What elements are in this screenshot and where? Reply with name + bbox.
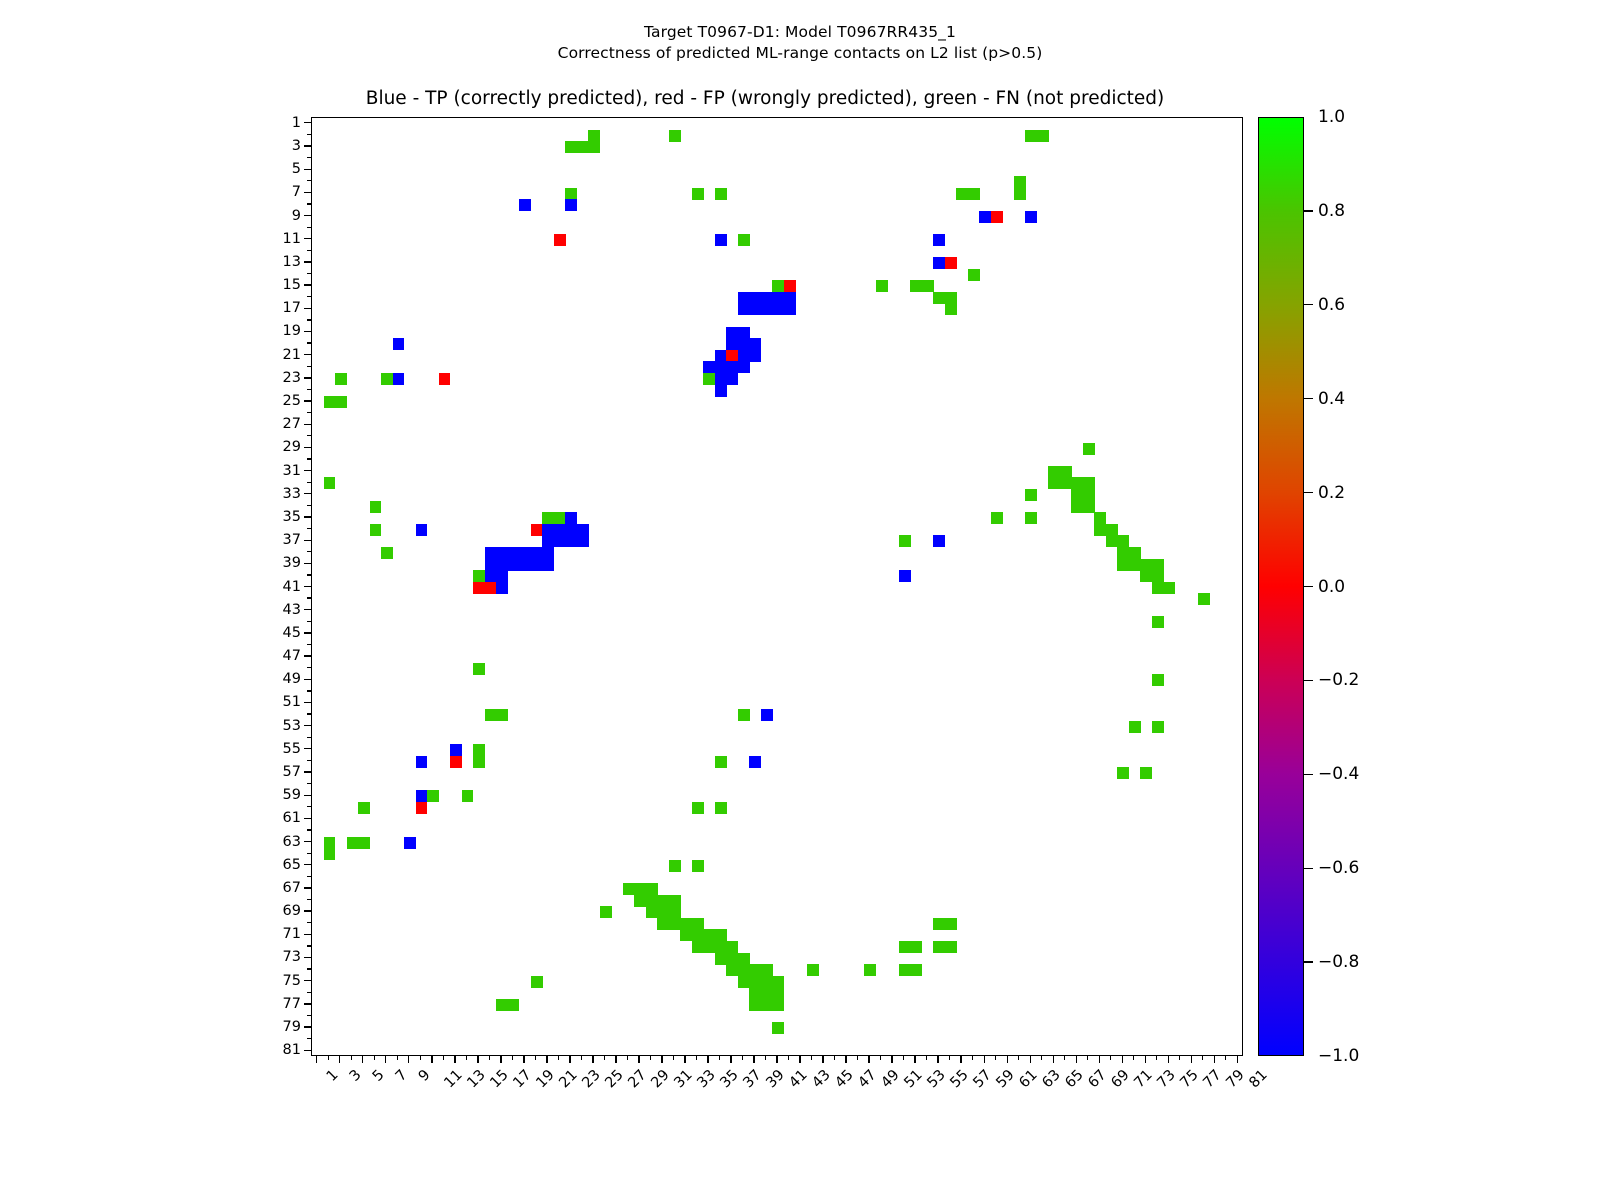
contact-cell-fn <box>738 964 750 976</box>
contact-cell-fn <box>381 547 393 559</box>
y-tick <box>304 586 311 587</box>
contact-cell-fn <box>588 130 600 142</box>
x-tick-label: 53 <box>924 1067 948 1091</box>
y-tick <box>307 157 311 158</box>
contact-cell-fn <box>703 929 715 941</box>
y-tick <box>304 122 311 123</box>
contact-cell-fn <box>669 906 681 918</box>
contact-cell-fn <box>749 987 761 999</box>
contact-cell-tp <box>738 292 750 304</box>
contact-cell-tp <box>738 361 750 373</box>
y-tick <box>304 400 311 401</box>
y-tick <box>304 655 311 656</box>
contact-cell-fn <box>715 929 727 941</box>
y-tick <box>307 296 311 297</box>
x-tick-label: 21 <box>556 1067 580 1091</box>
y-tick-label: 49 <box>241 671 301 687</box>
contact-cell-fn <box>1140 767 1152 779</box>
x-tick-label: 27 <box>625 1067 649 1091</box>
y-tick <box>304 354 311 355</box>
colorbar-tick-label: −0.2 <box>1318 670 1359 690</box>
contact-cell-fn <box>1060 477 1072 489</box>
contact-cell-fp <box>726 350 738 362</box>
x-tick-label: 61 <box>1017 1067 1041 1091</box>
x-tick-label: 75 <box>1178 1067 1202 1091</box>
x-tick-label: 35 <box>717 1067 741 1091</box>
x-tick <box>1133 1056 1134 1060</box>
contact-cell-fn <box>692 802 704 814</box>
contact-cell-fn <box>542 512 554 524</box>
x-tick <box>1053 1056 1054 1063</box>
colorbar-tick <box>1304 210 1313 211</box>
y-tick <box>304 540 311 541</box>
contact-cell-fn <box>634 895 646 907</box>
contact-cell-tp <box>485 559 497 571</box>
y-tick <box>304 748 311 749</box>
y-tick-label: 61 <box>241 810 301 826</box>
contact-cell-fn <box>657 918 669 930</box>
contact-cell-tp <box>772 292 784 304</box>
contact-cell-fn <box>508 999 520 1011</box>
y-tick <box>304 679 311 680</box>
contact-cell-fn <box>1083 501 1095 513</box>
contact-cell-tp <box>726 327 738 339</box>
contact-cell-fn <box>761 976 773 988</box>
contact-cell-fn <box>485 709 497 721</box>
y-tick-label: 19 <box>241 323 301 339</box>
x-tick-label: 15 <box>487 1067 511 1091</box>
contact-cell-fn <box>473 756 485 768</box>
contact-cell-fn <box>646 895 658 907</box>
x-tick <box>937 1056 938 1063</box>
contact-cell-fn <box>899 964 911 976</box>
contact-cell-tp <box>738 350 750 362</box>
x-tick-label: 13 <box>464 1067 488 1091</box>
y-tick <box>307 876 311 877</box>
contact-cell-fp <box>416 802 428 814</box>
contact-cell-tp <box>565 524 577 536</box>
y-tick-label: 27 <box>241 416 301 432</box>
y-tick <box>307 690 311 691</box>
y-tick-label: 55 <box>241 741 301 757</box>
x-tick <box>1122 1056 1123 1063</box>
contact-cell-tp <box>933 257 945 269</box>
y-tick <box>304 1003 311 1004</box>
y-tick-label: 37 <box>241 532 301 548</box>
y-tick <box>307 482 311 483</box>
x-tick <box>1099 1056 1100 1063</box>
y-tick <box>307 574 311 575</box>
y-tick-label: 11 <box>241 231 301 247</box>
contact-cell-fn <box>1014 188 1026 200</box>
y-tick <box>304 771 311 772</box>
x-tick <box>592 1056 593 1063</box>
contact-cell-fn <box>381 373 393 385</box>
y-tick <box>307 319 311 320</box>
contact-cell-fn <box>358 802 370 814</box>
contact-cell-tp <box>531 559 543 571</box>
contact-cell-fn <box>1094 524 1106 536</box>
contact-cell-fn <box>945 303 957 315</box>
contact-cell-fn <box>1198 593 1210 605</box>
y-tick-label: 31 <box>241 463 301 479</box>
x-tick-label: 67 <box>1086 1067 1110 1091</box>
x-tick <box>581 1056 582 1060</box>
contact-cell-fn <box>1152 570 1164 582</box>
y-tick-label: 15 <box>241 277 301 293</box>
x-tick <box>984 1056 985 1063</box>
contact-cell-fn <box>324 848 336 860</box>
x-tick <box>1087 1056 1088 1060</box>
x-tick-label: 69 <box>1109 1067 1133 1091</box>
contact-cell-fn <box>347 837 359 849</box>
y-tick <box>307 458 311 459</box>
contact-cell-fn <box>922 280 934 292</box>
contact-cell-fn <box>600 906 612 918</box>
contact-cell-tp <box>542 559 554 571</box>
y-tick-label: 9 <box>241 208 301 224</box>
x-tick <box>1018 1056 1019 1060</box>
contact-cell-tp <box>393 338 405 350</box>
contact-cell-fn <box>738 234 750 246</box>
y-tick <box>304 493 311 494</box>
contact-cell-fn <box>692 929 704 941</box>
contact-cell-fn <box>634 883 646 895</box>
contact-cell-fn <box>749 976 761 988</box>
contact-cell-fn <box>692 918 704 930</box>
y-tick <box>304 910 311 911</box>
y-tick <box>307 853 311 854</box>
y-tick <box>307 389 311 390</box>
y-tick <box>307 829 311 830</box>
contact-cell-tp <box>416 790 428 802</box>
contact-cell-fn <box>1117 767 1129 779</box>
contact-cell-fn <box>692 860 704 872</box>
contact-cell-fn <box>1048 477 1060 489</box>
y-tick <box>307 227 311 228</box>
contact-cell-fn <box>427 790 439 802</box>
contact-cell-fn <box>669 918 681 930</box>
contact-cell-tp <box>772 303 784 315</box>
y-tick <box>307 180 311 181</box>
colorbar <box>1258 117 1304 1056</box>
contact-cell-fp <box>945 257 957 269</box>
colorbar-tick-label: 0.2 <box>1318 483 1345 503</box>
contact-cell-fn <box>703 941 715 953</box>
contact-cell-fn <box>1106 535 1118 547</box>
contact-cell-fn <box>1140 570 1152 582</box>
y-tick <box>307 899 311 900</box>
contact-cell-tp <box>496 547 508 559</box>
colorbar-tick-label: 0.6 <box>1318 295 1345 315</box>
y-tick-label: 13 <box>241 254 301 270</box>
y-tick <box>304 284 311 285</box>
contact-cell-fn <box>956 188 968 200</box>
y-tick-label: 75 <box>241 973 301 989</box>
x-tick-label: 49 <box>878 1067 902 1091</box>
contact-cell-fn <box>715 802 727 814</box>
y-tick <box>307 412 311 413</box>
contact-cell-tp <box>726 361 738 373</box>
colorbar-tick-label: 0.8 <box>1318 201 1345 221</box>
x-tick-label: 79 <box>1224 1067 1248 1091</box>
x-tick <box>719 1056 720 1060</box>
contact-cell-fn <box>1071 501 1083 513</box>
y-tick <box>304 864 311 865</box>
x-tick-label: 39 <box>763 1067 787 1091</box>
contact-cell-fn <box>1129 547 1141 559</box>
contact-cell-fn <box>726 953 738 965</box>
x-tick <box>742 1056 743 1060</box>
contact-cell-tp <box>738 327 750 339</box>
contact-cell-fn <box>772 280 784 292</box>
x-tick-label: 37 <box>740 1067 764 1091</box>
contact-cell-fn <box>807 964 819 976</box>
contact-cell-fn <box>496 709 508 721</box>
contact-cell-tp <box>577 524 589 536</box>
y-tick <box>307 366 311 367</box>
contact-cell-fn <box>899 941 911 953</box>
contact-cell-tp <box>979 211 991 223</box>
x-tick <box>535 1056 536 1060</box>
x-tick <box>880 1056 881 1060</box>
y-tick <box>304 1050 311 1051</box>
y-tick-label: 33 <box>241 486 301 502</box>
contact-cell-fn <box>703 373 715 385</box>
contact-cell-fn <box>324 477 336 489</box>
x-tick-label: 51 <box>901 1067 925 1091</box>
contact-cell-tp <box>565 512 577 524</box>
y-tick-label: 47 <box>241 648 301 664</box>
x-tick <box>443 1056 444 1060</box>
y-tick <box>304 632 311 633</box>
x-tick <box>615 1056 616 1063</box>
contact-cell-tp <box>416 524 428 536</box>
contact-cell-tp <box>508 559 520 571</box>
x-tick <box>397 1056 398 1060</box>
x-tick <box>1168 1056 1169 1063</box>
contact-cell-tp <box>393 373 405 385</box>
x-tick <box>661 1056 662 1063</box>
contact-cell-fn <box>1152 559 1164 571</box>
x-tick <box>408 1056 409 1063</box>
y-tick <box>307 992 311 993</box>
contact-cell-fn <box>715 953 727 965</box>
x-tick-label: 23 <box>579 1067 603 1091</box>
x-tick <box>960 1056 961 1063</box>
contact-cell-fn <box>738 976 750 988</box>
contact-cell-tp <box>784 303 796 315</box>
x-tick-label: 65 <box>1063 1067 1087 1091</box>
contact-cell-fn <box>623 883 635 895</box>
contact-cell-tp <box>496 582 508 594</box>
x-tick-label: 19 <box>533 1067 557 1091</box>
x-tick <box>1156 1056 1157 1060</box>
contact-cell-tp <box>496 570 508 582</box>
contact-cell-tp <box>519 199 531 211</box>
contact-cell-fn <box>910 964 922 976</box>
contact-cell-fn <box>1037 130 1049 142</box>
colorbar-tick <box>1304 868 1313 869</box>
contact-cell-fp <box>784 280 796 292</box>
contact-cell-fn <box>646 906 658 918</box>
contact-cell-tp <box>565 535 577 547</box>
x-tick <box>650 1056 651 1060</box>
contact-cell-fn <box>462 790 474 802</box>
x-tick-label: 59 <box>994 1067 1018 1091</box>
title-line-1: Target T0967-D1: Model T0967RR435_1 <box>0 22 1600 43</box>
x-tick-label: 1 <box>323 1067 341 1085</box>
colorbar-tick-label: −0.6 <box>1318 858 1359 878</box>
contact-cell-tp <box>715 361 727 373</box>
contact-cell-fn <box>1117 559 1129 571</box>
colorbar-tick-label: −0.4 <box>1318 764 1359 784</box>
contact-cell-fn <box>1152 674 1164 686</box>
contact-cell-fn <box>968 269 980 281</box>
x-tick <box>431 1056 432 1063</box>
x-tick <box>788 1056 789 1060</box>
y-tick-label: 67 <box>241 880 301 896</box>
x-tick <box>730 1056 731 1063</box>
contact-cell-fn <box>876 280 888 292</box>
y-tick <box>307 250 311 251</box>
x-tick <box>684 1056 685 1063</box>
contact-cell-tp <box>554 535 566 547</box>
contact-cell-tp <box>542 524 554 536</box>
contact-cell-fn <box>1117 547 1129 559</box>
y-tick <box>304 887 311 888</box>
contact-cell-tp <box>485 547 497 559</box>
contact-cell-fp <box>991 211 1003 223</box>
colorbar-tick <box>1304 398 1313 399</box>
y-tick-label: 65 <box>241 857 301 873</box>
x-tick <box>1041 1056 1042 1060</box>
y-tick <box>307 644 311 645</box>
y-tick-label: 79 <box>241 1019 301 1035</box>
x-tick <box>512 1056 513 1060</box>
y-tick <box>304 261 311 262</box>
colorbar-tick <box>1304 774 1313 775</box>
y-tick-label: 23 <box>241 370 301 386</box>
contact-cell-tp <box>749 303 761 315</box>
contact-cell-fp <box>531 524 543 536</box>
heatmap-cells <box>312 118 1242 1055</box>
y-tick <box>307 134 311 135</box>
x-tick-label: 17 <box>510 1067 534 1091</box>
contact-cell-fn <box>554 512 566 524</box>
colorbar-tick <box>1304 586 1313 587</box>
x-tick-label: 11 <box>441 1067 465 1091</box>
y-tick-label: 5 <box>241 161 301 177</box>
contact-cell-fn <box>991 512 1003 524</box>
contact-cell-fn <box>692 941 704 953</box>
y-tick <box>307 597 311 598</box>
contact-cell-fn <box>1140 559 1152 571</box>
y-tick <box>304 192 311 193</box>
contact-cell-fn <box>1014 176 1026 188</box>
y-tick <box>307 806 311 807</box>
y-tick <box>307 1015 311 1016</box>
x-tick <box>500 1056 501 1063</box>
contact-cell-fn <box>657 895 669 907</box>
x-tick <box>1007 1056 1008 1063</box>
contact-cell-fn <box>669 895 681 907</box>
y-tick-label: 53 <box>241 718 301 734</box>
contact-cell-fn <box>324 837 336 849</box>
x-tick-label: 45 <box>832 1067 856 1091</box>
x-tick-label: 31 <box>671 1067 695 1091</box>
y-tick <box>307 713 311 714</box>
contact-cell-fp <box>473 582 485 594</box>
colorbar-tick <box>1304 304 1313 305</box>
contact-cell-tp <box>715 350 727 362</box>
x-tick <box>374 1056 375 1060</box>
contact-cell-fn <box>1025 130 1037 142</box>
contact-cell-fn <box>1083 443 1095 455</box>
y-tick-label: 77 <box>241 996 301 1012</box>
contact-cell-fn <box>692 188 704 200</box>
y-tick-label: 21 <box>241 347 301 363</box>
x-tick <box>351 1056 352 1060</box>
contact-cell-tp <box>749 338 761 350</box>
y-tick <box>304 145 311 146</box>
x-tick <box>489 1056 490 1060</box>
y-tick-label: 17 <box>241 300 301 316</box>
x-tick <box>316 1056 317 1063</box>
contact-cell-fp <box>485 582 497 594</box>
contact-cell-fn <box>669 130 681 142</box>
contact-cell-tp <box>450 744 462 756</box>
y-tick-label: 51 <box>241 694 301 710</box>
y-tick <box>304 725 311 726</box>
x-tick <box>328 1056 329 1060</box>
y-tick <box>304 447 311 448</box>
contact-cell-fn <box>335 373 347 385</box>
contact-cell-fn <box>657 906 669 918</box>
contact-cell-tp <box>577 535 589 547</box>
y-tick <box>304 841 311 842</box>
contact-cell-fn <box>335 396 347 408</box>
contact-cell-fn <box>933 292 945 304</box>
legend-subtitle: Blue - TP (correctly predicted), red - F… <box>0 88 1530 109</box>
contact-cell-fn <box>496 999 508 1011</box>
contact-cell-fn <box>577 141 589 153</box>
x-tick <box>914 1056 915 1063</box>
y-tick <box>307 1038 311 1039</box>
contact-cell-fp <box>554 234 566 246</box>
x-tick-label: 57 <box>970 1067 994 1091</box>
x-tick <box>995 1056 996 1060</box>
contact-cell-fn <box>1152 616 1164 628</box>
contact-cell-fn <box>772 987 784 999</box>
x-tick-label: 77 <box>1201 1067 1225 1091</box>
x-tick-label: 5 <box>369 1067 387 1085</box>
contact-cell-tp <box>519 559 531 571</box>
x-tick <box>1145 1056 1146 1063</box>
y-tick <box>307 737 311 738</box>
colorbar-tick-label: 0.4 <box>1318 389 1345 409</box>
contact-cell-tp <box>726 373 738 385</box>
contact-cell-fn <box>324 396 336 408</box>
y-tick-label: 81 <box>241 1042 301 1058</box>
contact-cell-tp <box>404 837 416 849</box>
contact-cell-tp <box>749 292 761 304</box>
y-tick-label: 57 <box>241 764 301 780</box>
x-tick <box>362 1056 363 1063</box>
x-tick <box>1202 1056 1203 1060</box>
contact-cell-fn <box>772 999 784 1011</box>
x-tick <box>1030 1056 1031 1063</box>
